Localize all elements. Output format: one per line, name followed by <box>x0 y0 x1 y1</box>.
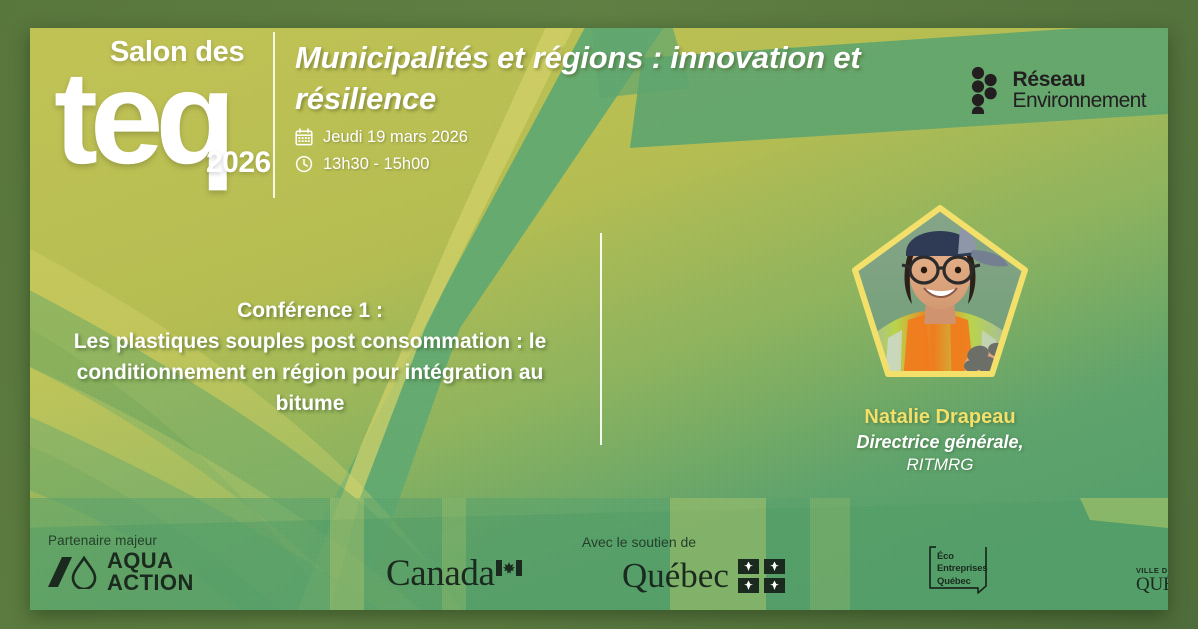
sponsor-quebec: Québec <box>622 558 786 593</box>
reseau-line2: Environnement <box>1013 90 1146 111</box>
speaker-name: Natalie Drapeau <box>775 406 1105 429</box>
eeq-wordmark: Éco Entreprises Québec <box>937 550 988 587</box>
eeq-line2: Entreprises <box>937 562 988 574</box>
event-time-row: 13h30 - 15h00 <box>295 155 935 174</box>
page-title: Municipalités et régions : innovation et… <box>295 38 935 120</box>
poster-header: Salon des teq 2026 Municipalités et régi… <box>30 28 1168 210</box>
clock-icon <box>295 155 313 173</box>
sponsor-eco-entreprises-quebec: Éco Entreprises Québec <box>924 546 1004 594</box>
aqua-action-logo: AQUA ACTION <box>44 550 194 594</box>
speaker-photo <box>840 198 1040 394</box>
vdq-line2: QUÉBEC <box>1136 574 1168 596</box>
reseau-wordmark: Réseau Environnement <box>1013 69 1146 112</box>
header-divider <box>273 32 275 198</box>
event-time: 13h30 - 15h00 <box>323 155 429 174</box>
reseau-line1: Réseau <box>1013 69 1146 90</box>
aqua-line1: AQUA <box>107 550 194 572</box>
fleur-de-lis-icon <box>738 559 786 593</box>
header-text-block: Municipalités et régions : innovation et… <box>295 38 935 174</box>
speaker-role: Directrice générale, <box>775 432 1105 453</box>
aqua-line2: ACTION <box>107 572 194 594</box>
logo-teq-mark: teq <box>54 52 228 184</box>
reseau-dots-icon <box>971 66 1005 114</box>
sponsor-ville-de-quebec: VILLE DE QUÉBEC <box>1134 544 1168 596</box>
aqua-action-icon <box>44 555 100 589</box>
aqua-action-wordmark: AQUA ACTION <box>107 550 194 594</box>
poster-card: Salon des teq 2026 Municipalités et régi… <box>30 28 1168 610</box>
event-date-row: Jeudi 19 mars 2026 <box>295 128 935 147</box>
content-divider <box>600 233 602 445</box>
speaker-photo-frame <box>840 198 1040 394</box>
eeq-line1: Éco <box>937 550 988 562</box>
support-label: Avec le soutien de <box>582 534 696 550</box>
calendar-icon <box>295 128 313 146</box>
poster-footer: Partenaire majeur AQUA ACTION Avec le so… <box>30 505 1168 610</box>
speaker-block: Natalie Drapeau Directrice générale, RIT… <box>775 198 1105 475</box>
poster-canvas: Salon des teq 2026 Municipalités et régi… <box>0 0 1198 629</box>
reseau-environnement-logo: Réseau Environnement <box>971 66 1146 114</box>
eeq-line3: Québec <box>937 575 988 587</box>
session-title: Conférence 1 : Les plastiques souples po… <box>40 296 580 419</box>
logo-year: 2026 <box>206 146 271 180</box>
quebec-wordmark: Québec <box>622 558 729 593</box>
sponsor-canada: Canada <box>386 555 522 592</box>
canada-flag-icon <box>496 560 522 576</box>
canada-wordmark: Canada <box>386 555 495 592</box>
event-date: Jeudi 19 mars 2026 <box>323 128 468 147</box>
speaker-organization: RITMRG <box>775 455 1105 475</box>
salon-teq-logo: Salon des teq 2026 <box>48 28 288 196</box>
